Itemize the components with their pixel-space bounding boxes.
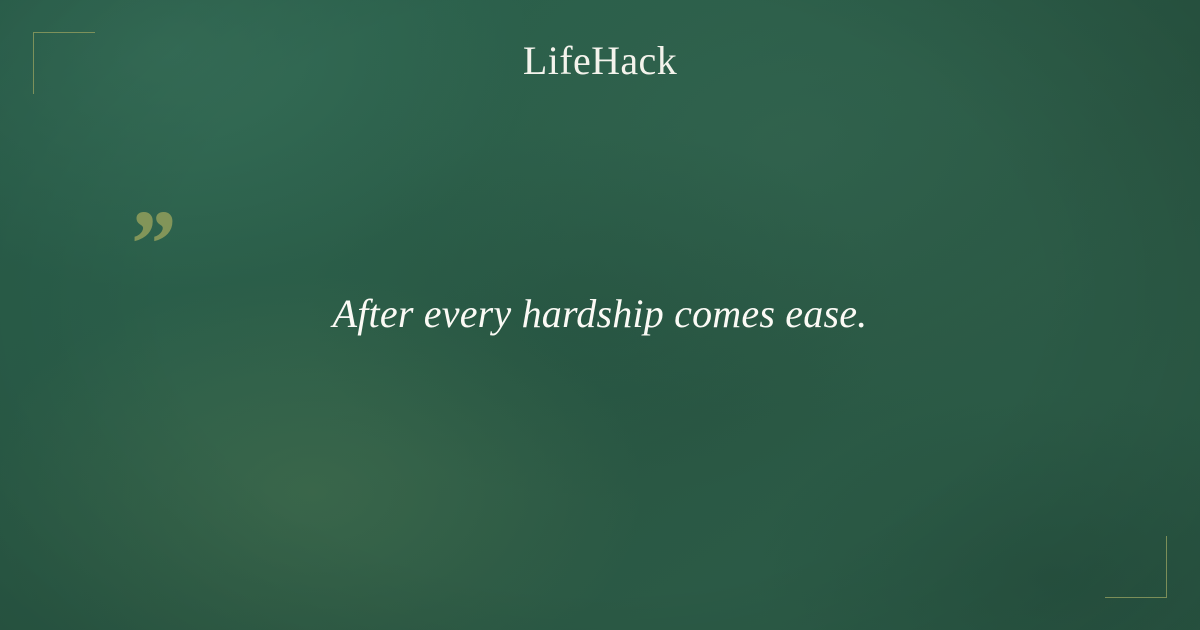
brand-logo: LifeHack [0, 37, 1200, 85]
quote-card: LifeHack ” After every hardship comes ea… [0, 0, 1200, 630]
quotation-mark-icon: ” [126, 196, 174, 292]
corner-bracket-bottom-right-icon [1105, 536, 1167, 598]
quote-text: After every hardship comes ease. [140, 286, 1060, 342]
quote-container: After every hardship comes ease. [0, 286, 1200, 342]
